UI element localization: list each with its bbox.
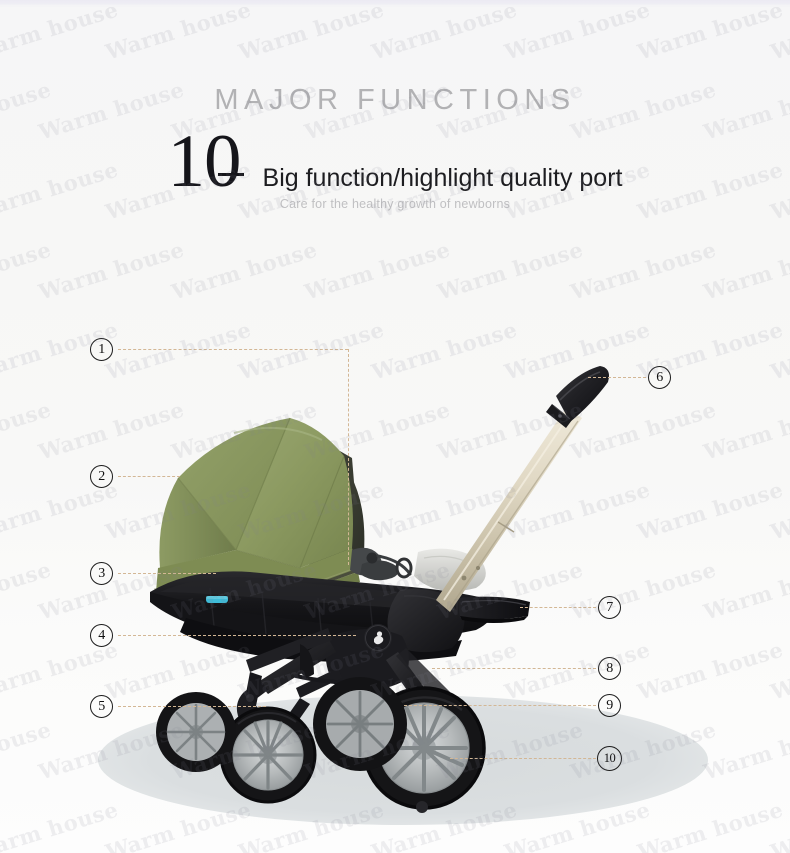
product-scene — [0, 300, 790, 853]
promo-page: 12345678910 MAJOR FUNCTIONS 10 Big funct… — [0, 0, 790, 853]
callout-leader-line-4 — [118, 635, 356, 636]
caster-tip — [416, 801, 428, 813]
big-number: 10 — [168, 124, 241, 199]
callout-leader-line-2 — [118, 476, 180, 477]
callout-leader-line-3 — [118, 573, 216, 574]
wheel-rear-small — [221, 708, 315, 802]
headline-row: 10 Big function/highlight quality port — [0, 124, 790, 199]
callout-leader-line-7 — [520, 607, 596, 608]
headline-text: Big function/highlight quality port — [263, 164, 623, 193]
watermark-text: Warm house — [169, 237, 320, 305]
callout-leader-line-6 — [588, 377, 646, 378]
callout-number-4[interactable]: 4 — [90, 624, 113, 647]
page-eyebrow: MAJOR FUNCTIONS — [0, 84, 790, 117]
callout-leader-line-1 — [118, 349, 348, 350]
watermark-text: Warm house — [0, 237, 54, 305]
watermark-text: Warm house — [568, 237, 719, 305]
callout-number-8[interactable]: 8 — [598, 657, 621, 680]
callout-number-6[interactable]: 6 — [648, 366, 671, 389]
callout-number-10[interactable]: 10 — [597, 746, 622, 771]
callout-number-2[interactable]: 2 — [90, 465, 113, 488]
page-header: MAJOR FUNCTIONS 10 Big function/highligh… — [0, 0, 790, 235]
top-strip — [0, 0, 790, 6]
callout-number-3[interactable]: 3 — [90, 562, 113, 585]
callout-leader-line-9 — [404, 705, 596, 706]
stroller-illustration — [0, 300, 790, 853]
wheel-front-inner — [313, 677, 407, 771]
callout-number-7[interactable]: 7 — [598, 596, 621, 619]
callout-number-9[interactable]: 9 — [598, 694, 621, 717]
callout-leader-vertical-1 — [348, 349, 349, 565]
watermark-text: Warm house — [36, 237, 187, 305]
callout-leader-line-5 — [118, 706, 266, 707]
callout-leader-line-10 — [450, 758, 596, 759]
watermark-text: Warm house — [302, 237, 453, 305]
callout-leader-line-8 — [432, 668, 596, 669]
handle-bar — [436, 366, 609, 612]
wheel-rear-inner — [156, 692, 236, 772]
page-subtitle: Care for the healthy growth of newborns — [0, 197, 790, 211]
callout-number-5[interactable]: 5 — [90, 695, 113, 718]
callout-number-1[interactable]: 1 — [90, 338, 113, 361]
watermark-text: Warm house — [701, 237, 790, 305]
canopy-hinge — [350, 548, 411, 581]
watermark-text: Warm house — [435, 237, 586, 305]
